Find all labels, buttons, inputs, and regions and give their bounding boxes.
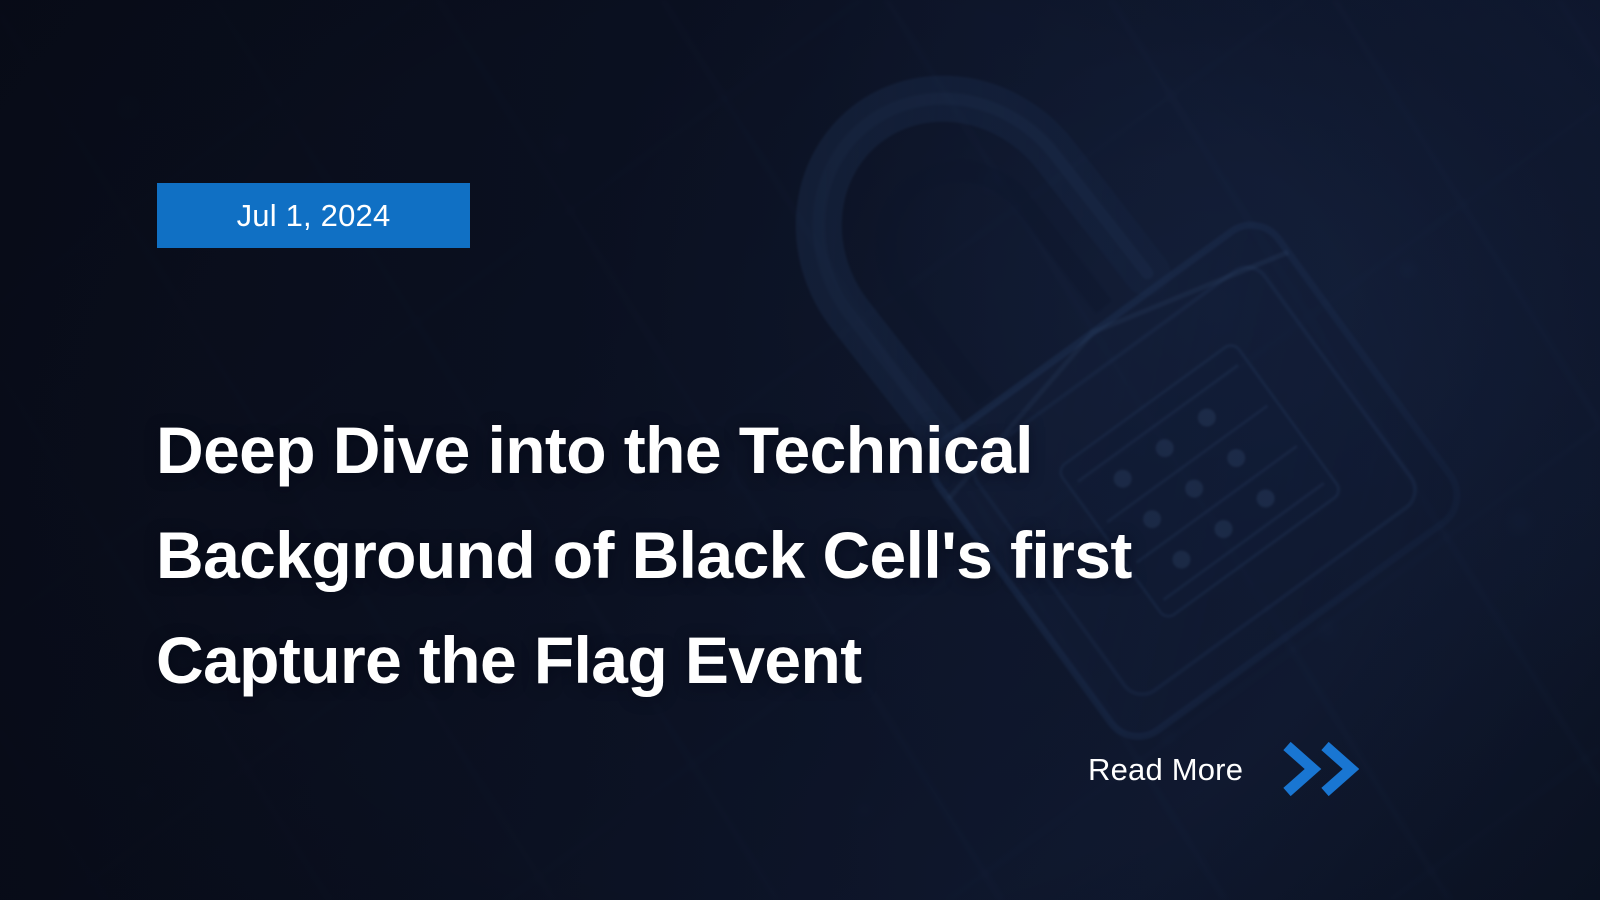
read-more-link[interactable]: Read More xyxy=(1088,740,1359,798)
hero-content: Jul 1, 2024 Deep Dive into the Technical… xyxy=(0,0,1600,900)
post-title-line-1: Deep Dive into the Technical xyxy=(156,398,1336,503)
read-more-label: Read More xyxy=(1088,754,1243,785)
double-chevron-right-icon xyxy=(1281,740,1359,798)
date-badge-label: Jul 1, 2024 xyxy=(237,200,391,231)
date-badge: Jul 1, 2024 xyxy=(157,183,470,248)
post-title: Deep Dive into the Technical Background … xyxy=(156,398,1336,713)
post-title-line-3: Capture the Flag Event xyxy=(156,608,1336,713)
blog-post-hero-card[interactable]: Jul 1, 2024 Deep Dive into the Technical… xyxy=(0,0,1600,900)
post-title-line-2: Background of Black Cell's first xyxy=(156,503,1336,608)
